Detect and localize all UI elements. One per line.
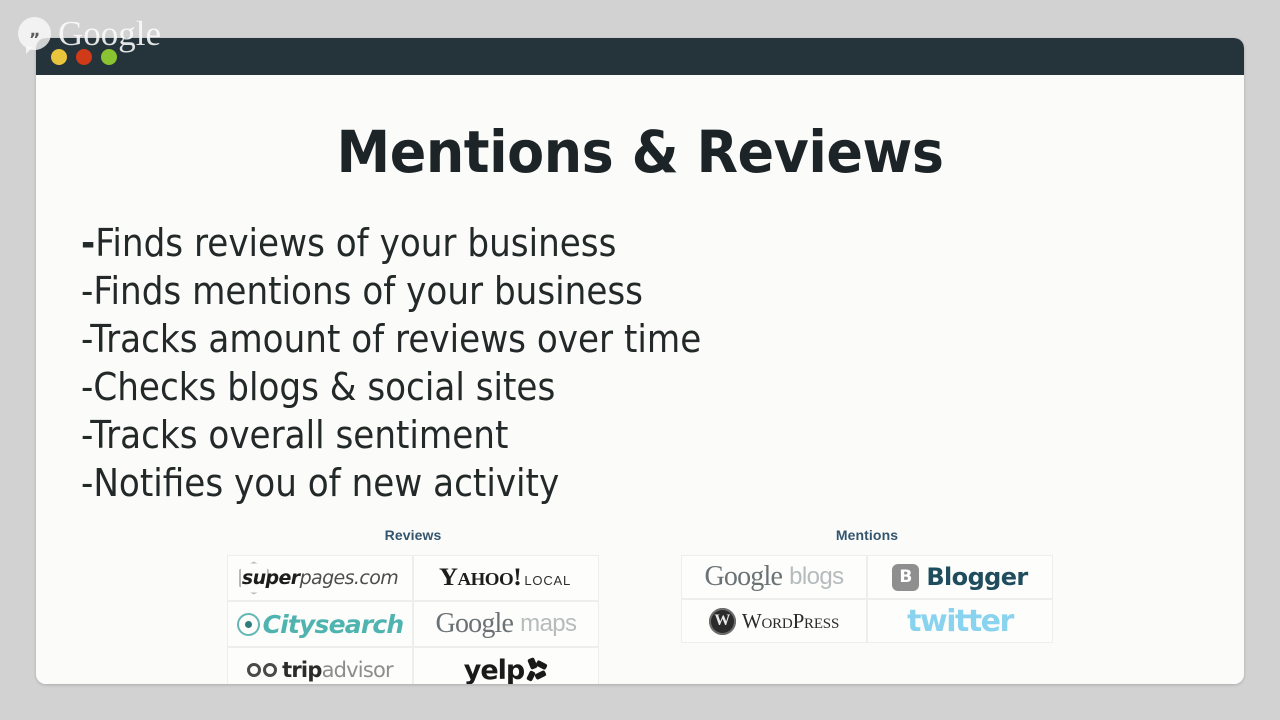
bullet-list: -Finds reviews of your business -Finds m…: [81, 219, 770, 507]
slide-title: Mentions & Reviews: [78, 75, 1201, 181]
blogger-wordmark: Blogger: [926, 563, 1027, 591]
tripadvisor-text-light: advisor: [322, 658, 393, 682]
yelp-burst-icon: [526, 658, 548, 682]
blogs-suffix: blogs: [789, 563, 843, 591]
yahoo-wordmark: Yahoo!: [439, 564, 521, 592]
logo-cell-wordpress: W WordPress: [681, 599, 867, 643]
bullet-dash: -: [81, 413, 90, 457]
yelp-wordmark: yelp: [464, 655, 525, 685]
google-maps-logo: Googlemaps: [436, 608, 577, 640]
logo-grid-reviews: superpages.com Yahoo!LOCAL Citysearch: [227, 555, 599, 684]
logo-cell-tripadvisor: tripadvisor: [227, 647, 413, 684]
blogger-icon-letter: B: [899, 569, 912, 586]
logo-cell-google-maps: Googlemaps: [413, 601, 599, 647]
bullet-text: Notifies you of new activity: [93, 461, 559, 505]
bullet-item: -Tracks amount of reviews over time: [81, 315, 701, 363]
blogger-b-icon: B: [892, 564, 919, 591]
bullet-item: -Finds reviews of your business: [81, 219, 701, 267]
logo-cell-blogger: B Blogger: [867, 555, 1053, 599]
logo-cell-google-blogs: Googleblogs: [681, 555, 867, 599]
bullet-text: Finds mentions of your business: [93, 269, 643, 313]
blogger-logo: B Blogger: [892, 563, 1027, 591]
logo-group-reviews: Reviews superpages.com Yahoo!LOCAL: [227, 527, 599, 684]
logo-cell-superpages: superpages.com: [227, 555, 413, 601]
maps-suffix: maps: [520, 610, 576, 638]
group-heading-mentions: Mentions: [681, 527, 1053, 543]
citysearch-eye-icon: [237, 613, 260, 636]
yahoo-local-logo: Yahoo!LOCAL: [441, 564, 571, 592]
twitter-logo: twitter: [907, 604, 1013, 639]
bullet-item: -Tracks overall sentiment: [81, 411, 701, 459]
bullet-item: -Checks blogs & social sites: [81, 363, 701, 411]
bullet-text: Checks blogs & social sites: [93, 365, 555, 409]
logo-cell-yahoo-local: Yahoo!LOCAL: [413, 555, 599, 601]
slide-content: Mentions & Reviews -Finds reviews of you…: [36, 75, 1244, 684]
window-button-close[interactable]: [76, 49, 92, 65]
bullet-dash: -: [81, 269, 93, 313]
bullet-item: -Notifies you of new activity: [81, 459, 701, 507]
logo-cell-citysearch: Citysearch: [227, 601, 413, 647]
bullet-dash: -: [81, 221, 95, 265]
superpages-text-light: pages.com: [300, 567, 399, 589]
twitter-wordmark: twitter: [907, 604, 1013, 639]
browser-window: Mentions & Reviews -Finds reviews of you…: [36, 38, 1244, 684]
logo-cell-yelp: yelp: [413, 647, 599, 684]
bullet-dash: -: [81, 461, 93, 505]
bullet-text: Tracks amount of reviews over time: [90, 317, 701, 361]
wordpress-logo: W WordPress: [709, 608, 839, 635]
wordpress-icon-letter: W: [714, 613, 730, 629]
google-wordmark: Google: [436, 608, 514, 640]
window-button-minimize[interactable]: [51, 49, 67, 65]
google-wordmark: Google: [704, 561, 782, 593]
citysearch-wordmark: Citysearch: [263, 610, 404, 639]
superpages-text-bold: super: [242, 567, 300, 589]
citysearch-logo: Citysearch: [237, 610, 404, 639]
yelp-logo: yelp: [464, 655, 549, 685]
logo-cell-twitter: twitter: [867, 599, 1053, 643]
slide-stage: „ Google Mentions & Reviews -Finds revie…: [0, 0, 1280, 720]
logo-group-mentions: Mentions Googleblogs B Blogger: [681, 527, 1053, 684]
wordpress-w-icon: W: [709, 608, 736, 635]
group-heading-reviews: Reviews: [227, 527, 599, 543]
google-blogs-logo: Googleblogs: [704, 561, 843, 593]
bullet-text: Tracks overall sentiment: [90, 413, 508, 457]
window-titlebar: [36, 38, 1244, 75]
yahoo-local-suffix: LOCAL: [524, 573, 571, 588]
tripadvisor-owl-icon: [247, 663, 277, 677]
bullet-item: -Finds mentions of your business: [81, 267, 701, 315]
bullet-text: Finds reviews of your business: [95, 221, 616, 265]
wordpress-wordmark: WordPress: [742, 609, 839, 634]
tripadvisor-logo: tripadvisor: [247, 658, 393, 682]
window-button-maximize[interactable]: [101, 49, 117, 65]
logo-grid-mentions: Googleblogs B Blogger W: [681, 555, 1053, 643]
bullet-dash: -: [81, 365, 93, 409]
superpages-logo: superpages.com: [242, 567, 398, 589]
logo-showcase: Reviews superpages.com Yahoo!LOCAL: [36, 527, 1244, 684]
bullet-dash: -: [81, 317, 90, 361]
tripadvisor-text-bold: trip: [282, 658, 321, 682]
quote-glyph: „: [29, 23, 39, 40]
